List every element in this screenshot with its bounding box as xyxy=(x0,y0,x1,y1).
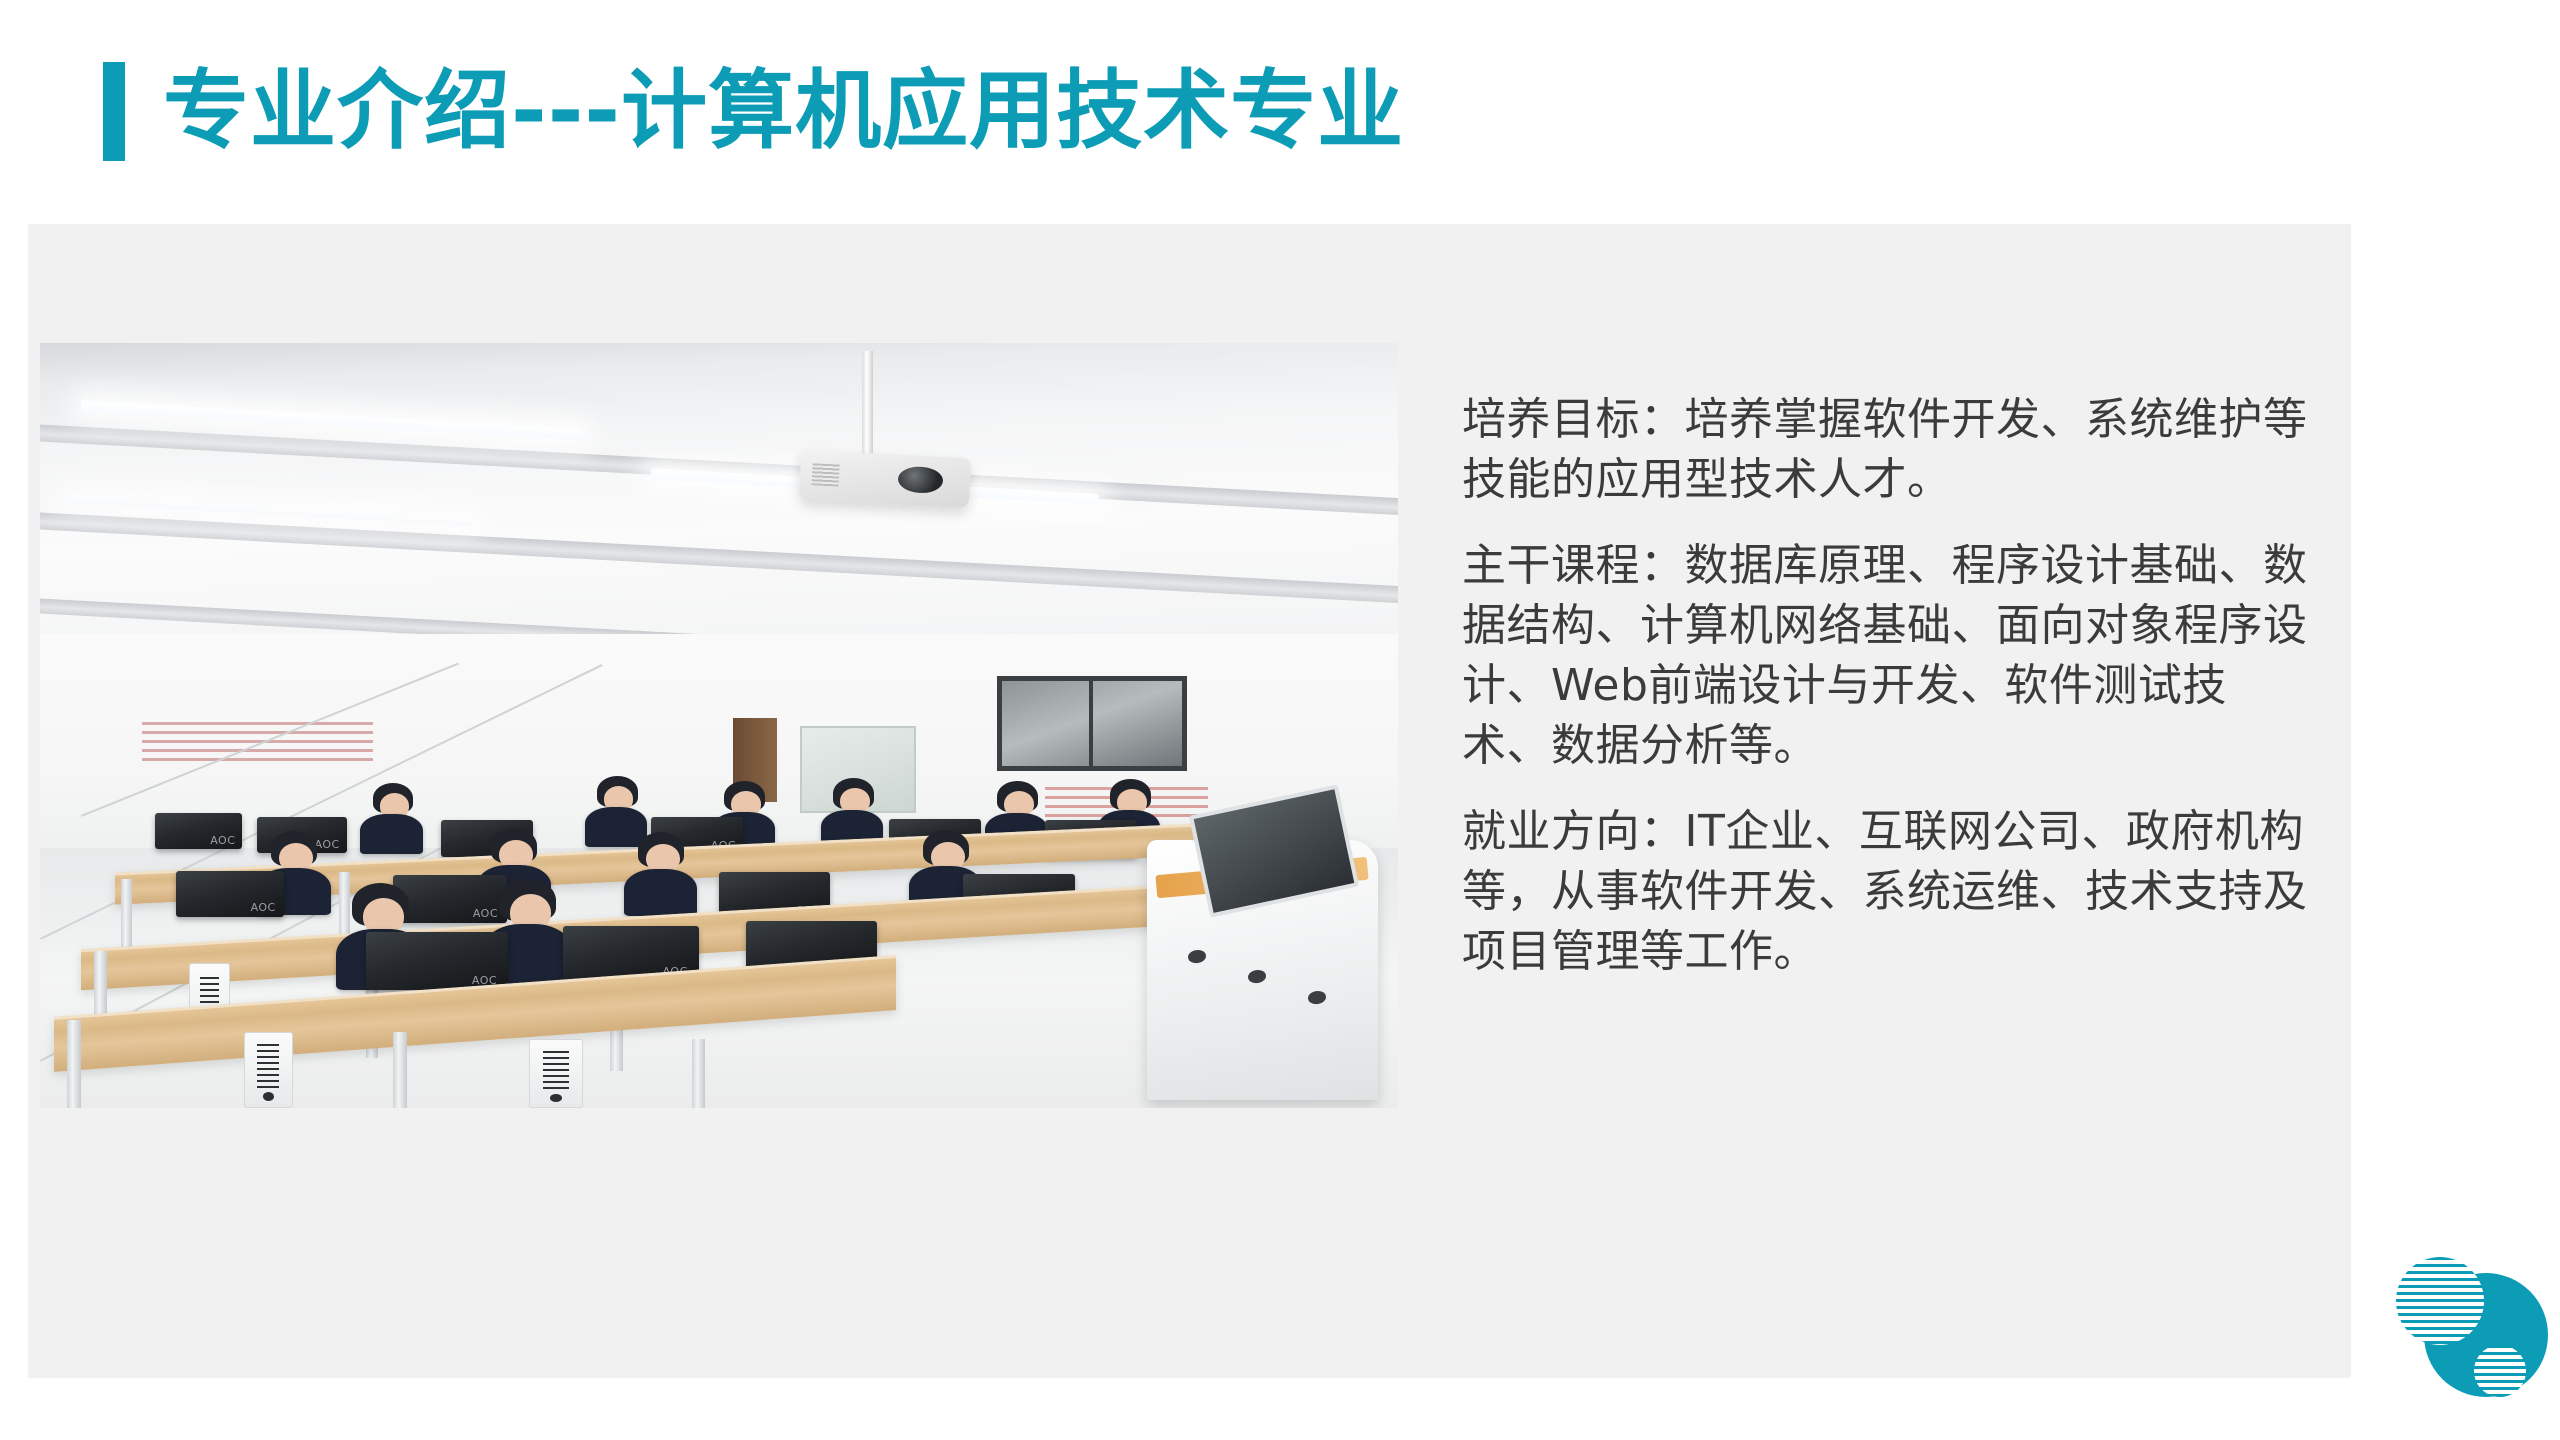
paragraph-core-courses: 主干课程：数据库原理、程序设计基础、数据结构、计算机网络基础、面向对象程序设计、… xyxy=(1462,536,2314,776)
podium-vent xyxy=(1308,990,1328,1005)
decoration-striped-circle-small xyxy=(2474,1345,2526,1397)
slide-root: 专业介绍---计算机应用技术专业 xyxy=(0,0,2560,1440)
desk-leg xyxy=(393,1032,407,1109)
projector xyxy=(799,450,971,509)
student-body xyxy=(585,807,647,847)
podium-vent xyxy=(1248,969,1268,984)
monitor: AOC xyxy=(393,875,507,922)
paragraph-training-goal: 培养目标：培养掌握软件开发、系统维护等技能的应用型技术人才。 xyxy=(1462,390,2314,510)
podium-vent xyxy=(1188,948,1208,963)
window xyxy=(997,676,1187,772)
student-body xyxy=(360,814,422,854)
classroom-photo: AOC AOC AOC AOC AOC AOC AOC AOC xyxy=(40,343,1398,1108)
monitor: AOC xyxy=(366,932,509,990)
desk-leg xyxy=(67,1020,81,1108)
desk-leg xyxy=(121,879,132,948)
desk-leg xyxy=(692,1039,706,1108)
monitor: AOC xyxy=(176,871,285,917)
title-text: 专业介绍---计算机应用技术专业 xyxy=(163,68,1404,154)
decoration-striped-circle-large xyxy=(2396,1257,2484,1345)
body-copy: 培养目标：培养掌握软件开发、系统维护等技能的应用型技术人才。 主干课程：数据库原… xyxy=(1462,390,2314,982)
teal-circles-decoration xyxy=(2396,1245,2560,1415)
teacher-podium xyxy=(1147,840,1378,1100)
desk-leg xyxy=(339,872,350,941)
monitor: AOC xyxy=(155,813,242,848)
pc-tower xyxy=(244,1032,293,1109)
title-accent-bar xyxy=(103,62,125,161)
paragraph-career-paths: 就业方向：IT企业、互联网公司、政府机构等，从事软件开发、系统运维、技术支持及项… xyxy=(1462,802,2314,982)
page-title: 专业介绍---计算机应用技术专业 xyxy=(103,55,1404,167)
student-body xyxy=(624,869,697,916)
pc-tower xyxy=(529,1039,583,1108)
photo-scene: AOC AOC AOC AOC AOC AOC AOC AOC xyxy=(40,343,1398,1108)
projector-mount xyxy=(862,351,874,458)
